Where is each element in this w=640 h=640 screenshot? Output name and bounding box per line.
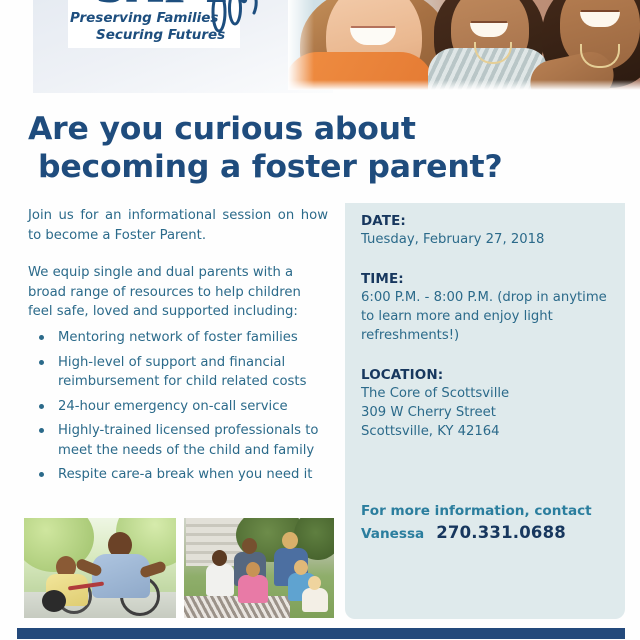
location-line-2: 309 W Cherry Street xyxy=(361,403,611,422)
headline-line-2: becoming a foster parent? xyxy=(28,148,508,186)
list-item: Mentoring network of foster families xyxy=(32,328,328,348)
photo-family-picnic xyxy=(184,518,334,618)
people-figures-icon xyxy=(205,0,269,34)
time-value: 6:00 P.M. - 8:00 P.M. (drop in anytime t… xyxy=(361,288,611,345)
headline-line-1: Are you curious about xyxy=(28,111,416,147)
intro-paragraph: Join us for an informational session on … xyxy=(28,206,328,245)
contact-prompt: For more information, contact xyxy=(361,503,592,519)
time-block: TIME: 6:00 P.M. - 8:00 P.M. (drop in any… xyxy=(361,271,611,345)
date-value: Tuesday, February 27, 2018 xyxy=(361,230,611,249)
location-block: LOCATION: The Core of Scottsville 309 W … xyxy=(361,367,611,441)
contact-details: Vanessa270.331.0688 xyxy=(361,523,592,542)
contact-phone[interactable]: 270.331.0688 xyxy=(436,523,566,542)
contact-name: Vanessa xyxy=(361,526,424,542)
location-line-1: The Core of Scottsville xyxy=(361,384,611,403)
location-label: LOCATION: xyxy=(361,367,611,383)
benefits-list: Mentoring network of foster families Hig… xyxy=(32,328,328,490)
flyer-page: SAFY Preserving Families Securing Future… xyxy=(0,0,640,640)
list-item: 24-hour emergency on-call service xyxy=(32,397,328,417)
list-item: High-level of support and financial reim… xyxy=(32,353,328,392)
list-item: Respite care-a break when you need it xyxy=(32,465,328,485)
page-title: Are you curious about becoming a foster … xyxy=(28,110,508,186)
logo-tagline-line1: Preserving Families xyxy=(70,10,218,26)
footer-bar xyxy=(17,628,625,639)
header-photo-family xyxy=(288,0,640,90)
time-label: TIME: xyxy=(361,271,611,287)
event-info-panel: DATE: Tuesday, February 27, 2018 TIME: 6… xyxy=(345,203,625,619)
body-text: Join us for an informational session on … xyxy=(28,206,328,322)
list-item: Highly-trained licensed professionals to… xyxy=(32,421,328,460)
date-block: DATE: Tuesday, February 27, 2018 xyxy=(361,213,611,249)
contact-block: For more information, contact Vanessa270… xyxy=(361,503,592,542)
resources-paragraph: We equip single and dual parents with a … xyxy=(28,263,328,322)
location-line-3: Scottsville, KY 42164 xyxy=(361,422,611,441)
photo-father-and-son-bikes xyxy=(24,518,176,618)
date-label: DATE: xyxy=(361,213,611,229)
